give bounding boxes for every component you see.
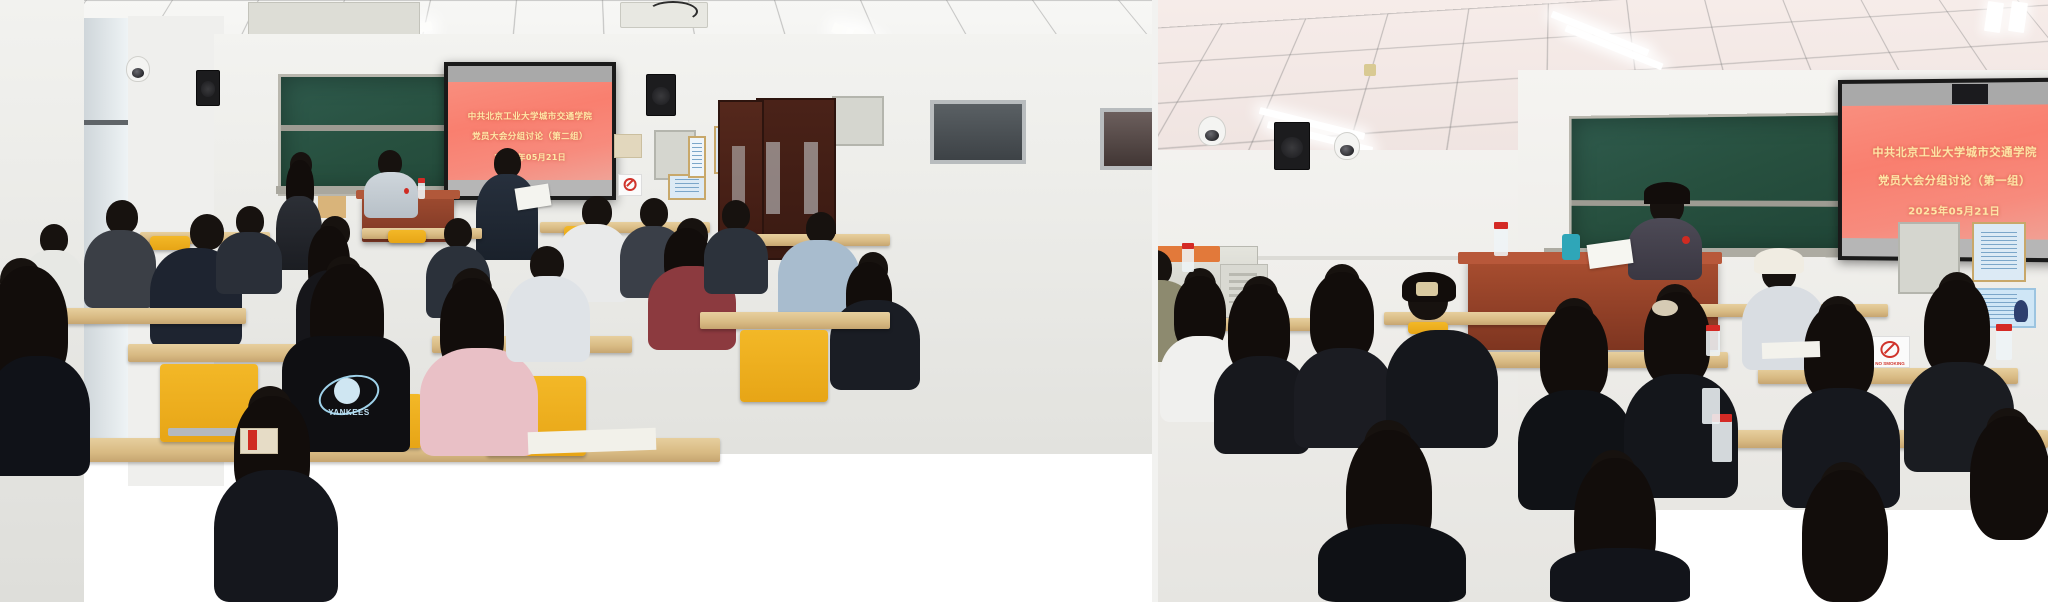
thermos-cup: [1562, 234, 1580, 260]
slide-content: 中共北京工业大学城市交通学院 党员大会分组讨论（第二组） 2025年05月21日: [448, 82, 612, 180]
red-party-badge: [404, 188, 409, 194]
bottle-cap: [418, 178, 425, 183]
water-bottle: [1702, 388, 1720, 424]
wall-speaker: [196, 70, 220, 106]
student-desk: [700, 312, 890, 329]
slide-line-2: 党员大会分组讨论（第二组）: [448, 130, 612, 142]
bottle-cap: [1996, 324, 2012, 331]
wall-label-plate: [614, 134, 642, 158]
framed-notice: [1972, 222, 2026, 282]
hair-clip: [1416, 282, 1438, 296]
water-bottle: [418, 182, 425, 199]
screen-header-band: [1842, 82, 2048, 106]
classroom-chair: [740, 330, 828, 402]
wall-monitor: [1952, 84, 1988, 104]
slide-line-2: 党员大会分组讨论（第一组）: [1842, 172, 2048, 188]
dome-camera: [1198, 116, 1226, 146]
panel-divider: [1152, 0, 1158, 602]
box-stripe: [248, 430, 257, 450]
window-frame-rail: [84, 120, 128, 125]
water-bottle: [1494, 228, 1508, 256]
no-smoking-sign: [618, 174, 642, 196]
left-classroom-scene: 中共北京工业大学城市交通学院 党员大会分组讨论（第二组） 2025年05月21日: [0, 0, 1152, 602]
classroom-photo-collage: 中共北京工业大学城市交通学院 党员大会分组讨论（第二组） 2025年05月21日: [0, 0, 2048, 602]
bottle-cap: [1182, 243, 1194, 249]
slide-line-3: 2025年05月21日: [1842, 202, 2048, 218]
wall-control-panel: [832, 96, 884, 146]
bottle-cap: [1706, 325, 1720, 331]
paper-sheets: [528, 428, 657, 454]
desk-item: [318, 196, 346, 218]
paper-sheets: [1762, 341, 1821, 359]
screen-header-band: [448, 66, 612, 82]
red-party-badge: [1682, 236, 1690, 244]
no-smoking-text: NO SMOKING: [1871, 361, 1909, 366]
classroom-window: [1100, 108, 1152, 170]
desk-box: [240, 428, 278, 454]
dome-camera: [126, 56, 150, 82]
wall-speaker: [1274, 122, 1310, 170]
right-classroom-scene: 中共北京工业大学城市交通学院 党员大会分组讨论（第一组） 2025年05月21日: [1158, 0, 2048, 602]
projection-screen: 中共北京工业大学城市交通学院 党员大会分组讨论（第二组） 2025年05月21日: [444, 62, 616, 200]
water-bottle: [1996, 330, 2012, 360]
tshirt-planet-core: [334, 378, 360, 404]
water-bottle: [1712, 420, 1732, 462]
tshirt-text: YANKEES: [318, 408, 380, 417]
hair: [1644, 182, 1690, 204]
water-bottle: [1182, 248, 1194, 272]
green-blackboard: [1569, 112, 1884, 258]
no-smoking-sign: NO SMOKING: [1870, 336, 1910, 368]
classroom-window: [930, 100, 1026, 164]
slide-content: 中共北京工业大学城市交通学院 党员大会分组讨论（第一组） 2025年05月21日: [1842, 104, 2048, 240]
student-desk: [46, 308, 246, 324]
wall-notice-board: [688, 136, 706, 178]
bottle-cap: [1494, 222, 1508, 229]
projector-cable: [648, 1, 698, 22]
water-bottle: [1706, 330, 1720, 356]
classroom-chair: [388, 230, 426, 243]
ceiling-air-conditioner: [248, 2, 420, 38]
hair-tie: [1652, 300, 1678, 316]
slide-line-1: 中共北京工业大学城市交通学院: [448, 110, 612, 122]
slide-line-3: 2025年05月21日: [448, 152, 612, 163]
left-photo-panel: 中共北京工业大学城市交通学院 党员大会分组讨论（第二组） 2025年05月21日: [0, 0, 1152, 602]
smoke-detector: [1364, 64, 1376, 76]
slide-line-1: 中共北京工业大学城市交通学院: [1842, 143, 2048, 160]
wall-speaker: [646, 74, 676, 116]
hair-band: [1754, 248, 1804, 274]
dome-camera: [1334, 132, 1360, 160]
right-photo-panel: 中共北京工业大学城市交通学院 党员大会分组讨论（第一组） 2025年05月21日: [1158, 0, 2048, 602]
